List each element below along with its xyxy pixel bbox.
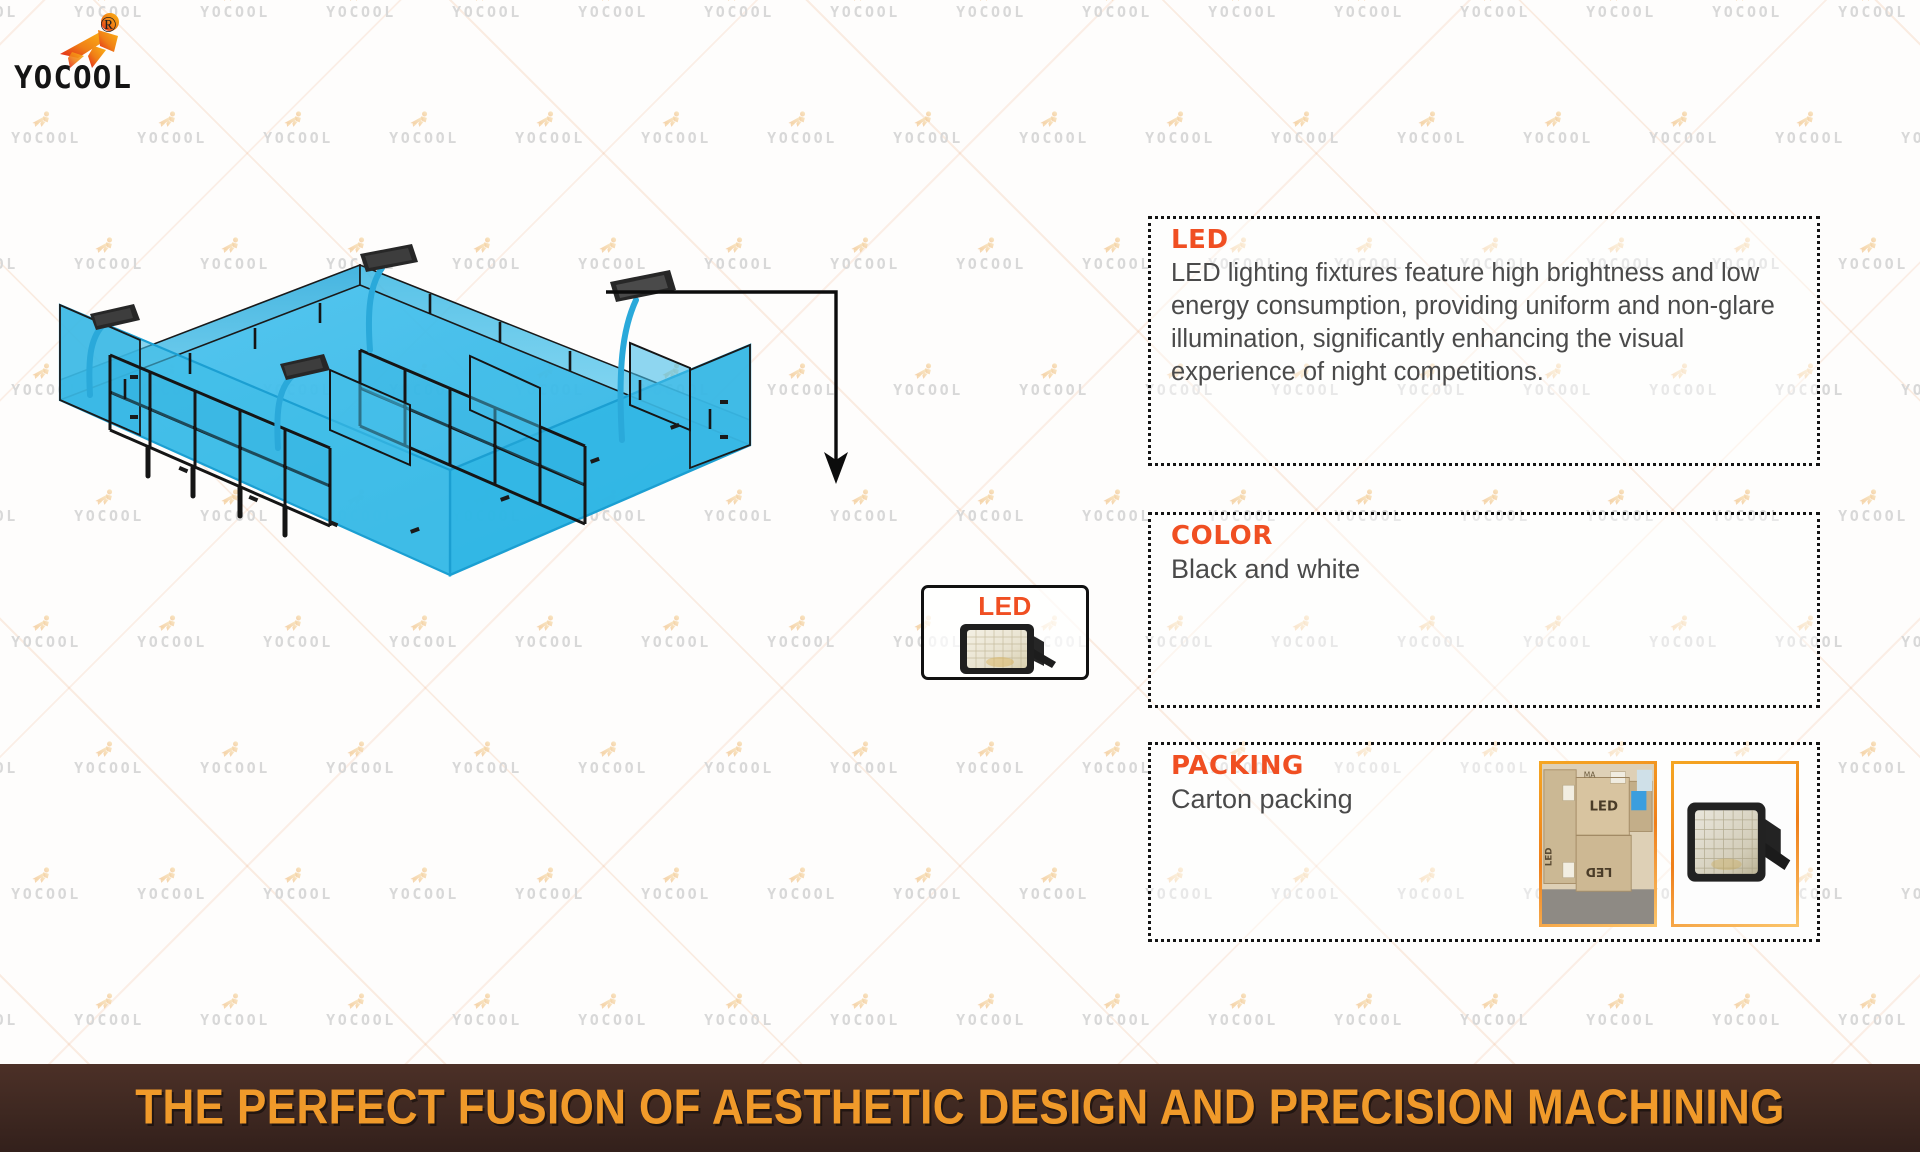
running-figure-icon: [659, 862, 693, 888]
watermark-mark: YOCOOL: [865, 862, 991, 922]
watermark-mark: YOCOOL: [928, 736, 1054, 796]
running-figure-icon: [407, 862, 441, 888]
watermark-mark: YOCOOL: [1873, 610, 1920, 670]
running-figure-icon: [407, 610, 441, 636]
led-callout-box: LED: [921, 585, 1089, 680]
running-figure-icon: [1856, 736, 1890, 762]
running-figure-icon: [722, 988, 756, 1014]
watermark-mark: YOCOOL: [0, 736, 46, 796]
watermark-mark: YOCOOL: [487, 610, 613, 670]
running-figure-icon: [911, 106, 945, 132]
running-figure-icon: [533, 106, 567, 132]
running-figure-icon: [1352, 0, 1386, 6]
running-figure-icon: [722, 0, 756, 6]
running-figure-icon: [1163, 106, 1197, 132]
watermark-mark: YOCOOL: [1180, 0, 1306, 40]
watermark-mark: YOCOOL: [1747, 106, 1873, 166]
watermark-mark: YOCOOL: [865, 106, 991, 166]
watermark-mark: YOCOOL: [1873, 862, 1920, 922]
running-figure-icon: [1415, 106, 1449, 132]
watermark-mark: YOCOOL: [172, 736, 298, 796]
led-floodlight-photo: [1671, 761, 1799, 927]
watermark-mark: YOCOOL: [1054, 988, 1180, 1048]
running-figure-icon: [1037, 106, 1071, 132]
watermark-mark: YOCOOL: [613, 106, 739, 166]
watermark-mark: YOCOOL: [613, 862, 739, 922]
watermark-mark: YOCOOL: [1873, 358, 1920, 418]
watermark-mark: YOCOOL: [172, 988, 298, 1048]
panel-heading-color: COLOR: [1171, 521, 1273, 551]
watermark-mark: YOCOOL: [424, 736, 550, 796]
running-figure-icon: [218, 988, 252, 1014]
watermark-mark: YOCOOL: [1054, 0, 1180, 40]
watermark-mark: YOCOOL: [109, 862, 235, 922]
bottom-slogan-banner: THE PERFECT FUSION OF AESTHETIC DESIGN A…: [0, 1064, 1920, 1152]
running-figure-icon: [1793, 106, 1827, 132]
watermark-mark: YOCOOL: [928, 988, 1054, 1048]
panel-body-led: LED lighting fixtures feature high brigh…: [1171, 257, 1801, 389]
running-figure-icon: [470, 0, 504, 6]
running-figure-icon: [281, 862, 315, 888]
led-floodlight-icon: [952, 618, 1062, 678]
watermark-mark: YOCOOL: [109, 106, 235, 166]
watermark-mark: YOCOOL: [235, 610, 361, 670]
running-figure-icon: [1100, 232, 1134, 258]
watermark-mark: YOCOOL: [1558, 0, 1684, 40]
watermark-mark: YOCOOL: [1432, 0, 1558, 40]
running-figure-icon: [1478, 988, 1512, 1014]
running-figure-icon: [92, 988, 126, 1014]
watermark-mark: YOCOOL: [676, 988, 802, 1048]
watermark-mark: YOCOOL: [1810, 232, 1920, 292]
running-figure-icon: [596, 988, 630, 1014]
watermark-mark: YOCOOL: [1810, 0, 1920, 40]
watermark-mark: YOCOOL: [1873, 106, 1920, 166]
running-figure-icon: [911, 862, 945, 888]
packing-thumbnail-group: LED LED LED MA: [1539, 761, 1799, 927]
running-figure-icon: [1604, 988, 1638, 1014]
running-figure-icon: [1730, 988, 1764, 1014]
running-figure-icon: [659, 610, 693, 636]
watermark-mark: YOCOOL: [739, 610, 865, 670]
running-figure-icon: [470, 736, 504, 762]
running-figure-icon: [344, 0, 378, 6]
watermark-mark: YOCOOL: [235, 106, 361, 166]
running-figure-icon: [218, 0, 252, 6]
watermark-mark: YOCOOL: [361, 106, 487, 166]
running-figure-icon: [974, 736, 1008, 762]
watermark-mark: YOCOOL: [0, 988, 46, 1048]
watermark-mark: YOCOOL: [739, 862, 865, 922]
watermark-mark: YOCOOL: [991, 358, 1117, 418]
running-figure-icon: [785, 862, 819, 888]
running-figure-icon: [974, 988, 1008, 1014]
watermark-mark: YOCOOL: [109, 610, 235, 670]
running-figure-icon: [848, 232, 882, 258]
running-figure-icon: [1352, 484, 1386, 510]
watermark-mark: YOCOOL: [550, 736, 676, 796]
running-figure-icon: [155, 106, 189, 132]
watermark-mark: YOCOOL: [928, 232, 1054, 292]
running-figure-icon: [848, 736, 882, 762]
panel-heading-packing: PACKING: [1171, 751, 1304, 781]
watermark-mark: YOCOOL: [1495, 106, 1621, 166]
running-figure-icon: [659, 106, 693, 132]
watermark-mark: YOCOOL: [487, 106, 613, 166]
running-figure-icon: [29, 862, 63, 888]
running-figure-icon: [1226, 988, 1260, 1014]
watermark-mark: YOCOOL: [676, 0, 802, 40]
running-figure-icon: [596, 736, 630, 762]
running-figure-icon: [470, 988, 504, 1014]
running-figure-icon: [1541, 106, 1575, 132]
running-figure-icon: [1289, 106, 1323, 132]
running-figure-icon: [1037, 862, 1071, 888]
watermark-mark: YOCOOL: [1369, 106, 1495, 166]
spec-panel-color: COLOR Black and white: [1148, 512, 1820, 708]
running-figure-icon: [1856, 232, 1890, 258]
running-figure-icon: [848, 988, 882, 1014]
svg-text:LED: LED: [1586, 865, 1613, 880]
running-figure-icon: [1100, 736, 1134, 762]
watermark-mark: YOCOOL: [1306, 988, 1432, 1048]
watermark-mark: YOCOOL: [1306, 0, 1432, 40]
watermark-mark: YOCOOL: [1684, 0, 1810, 40]
running-figure-icon: [29, 610, 63, 636]
callout-connector-arrow: [590, 270, 870, 500]
running-figure-icon: [1856, 484, 1890, 510]
running-figure-icon: [1100, 484, 1134, 510]
svg-text:LED: LED: [1545, 848, 1555, 867]
running-figure-icon: [1037, 358, 1071, 384]
watermark-mark: YOCOOL: [298, 0, 424, 40]
led-floodlight-image: [1674, 764, 1796, 924]
running-figure-icon: [722, 736, 756, 762]
running-figure-icon: [848, 0, 882, 6]
running-figure-icon: [785, 610, 819, 636]
watermark-mark: YOCOOL: [298, 736, 424, 796]
watermark-mark: YOCOOL: [424, 0, 550, 40]
running-figure-icon: [1667, 106, 1701, 132]
running-figure-icon: [281, 106, 315, 132]
brand-logo: ® YOCOOL: [14, 8, 194, 100]
watermark-mark: YOCOOL: [928, 484, 1054, 544]
panel-heading-led: LED: [1171, 225, 1229, 255]
running-figure-icon: [1856, 0, 1890, 6]
watermark-mark: YOCOOL: [991, 106, 1117, 166]
watermark-mark: YOCOOL: [550, 0, 676, 40]
watermark-mark: YOCOOL: [928, 0, 1054, 40]
running-figure-icon: [1730, 484, 1764, 510]
running-figure-icon: [1100, 0, 1134, 6]
watermark-mark: YOCOOL: [1684, 988, 1810, 1048]
watermark-mark: YOCOOL: [1810, 736, 1920, 796]
watermark-mark: YOCOOL: [1117, 106, 1243, 166]
running-figure-icon: [1730, 0, 1764, 6]
running-figure-icon: [1856, 988, 1890, 1014]
carton-boxes-image: LED LED LED MA: [1542, 764, 1654, 924]
running-figure-icon: [92, 736, 126, 762]
svg-text:LED: LED: [1589, 799, 1618, 814]
watermark-mark: YOCOOL: [550, 988, 676, 1048]
running-figure-icon: [533, 862, 567, 888]
svg-text:MA: MA: [1584, 770, 1596, 779]
watermark-mark: YOCOOL: [1243, 106, 1369, 166]
watermark-mark: YOCOOL: [802, 0, 928, 40]
watermark-mark: YOCOOL: [487, 862, 613, 922]
watermark-mark: YOCOOL: [613, 610, 739, 670]
watermark-mark: YOCOOL: [1810, 988, 1920, 1048]
running-figure-icon: [1226, 484, 1260, 510]
product-spec-page: YOCOOL YOCOOL YOCOOL: [0, 0, 1920, 1152]
watermark-mark: YOCOOL: [1558, 988, 1684, 1048]
brand-wordmark: YOCOOL: [14, 60, 132, 96]
watermark-mark: YOCOOL: [424, 988, 550, 1048]
spec-panel-packing: PACKING Carton packing LED: [1148, 742, 1820, 942]
watermark-mark: YOCOOL: [1621, 106, 1747, 166]
running-figure-icon: [155, 610, 189, 636]
watermark-mark: YOCOOL: [802, 988, 928, 1048]
watermark-mark: YOCOOL: [361, 862, 487, 922]
running-figure-icon: [155, 862, 189, 888]
spec-panel-led: LED LED lighting fixtures feature high b…: [1148, 216, 1820, 466]
running-figure-icon: [344, 988, 378, 1014]
watermark-mark: YOCOOL: [1180, 988, 1306, 1048]
running-figure-icon: [596, 0, 630, 6]
running-figure-icon: [1478, 484, 1512, 510]
running-figure-icon: [785, 106, 819, 132]
watermark-mark: YOCOOL: [0, 862, 109, 922]
watermark-mark: YOCOOL: [802, 736, 928, 796]
watermark-mark: YOCOOL: [298, 988, 424, 1048]
registered-trademark-symbol: ®: [100, 12, 117, 38]
watermark-mark: YOCOOL: [991, 862, 1117, 922]
carton-boxes-photo: LED LED LED MA: [1539, 761, 1657, 927]
running-figure-icon: [29, 106, 63, 132]
watermark-mark: YOCOOL: [865, 358, 991, 418]
watermark-mark: YOCOOL: [1810, 484, 1920, 544]
running-figure-icon: [1478, 0, 1512, 6]
watermark-mark: YOCOOL: [1432, 988, 1558, 1048]
watermark-mark: YOCOOL: [0, 106, 109, 166]
running-figure-icon: [974, 0, 1008, 6]
watermark-mark: YOCOOL: [46, 736, 172, 796]
running-figure-icon: [92, 0, 126, 6]
running-figure-icon: [281, 610, 315, 636]
running-figure-icon: [1604, 484, 1638, 510]
running-figure-icon: [974, 484, 1008, 510]
slogan-text: THE PERFECT FUSION OF AESTHETIC DESIGN A…: [135, 1080, 1785, 1136]
running-figure-icon: [218, 736, 252, 762]
running-figure-icon: [1352, 988, 1386, 1014]
running-figure-icon: [911, 358, 945, 384]
panel-body-color: Black and white: [1171, 553, 1801, 586]
running-figure-icon: [1604, 0, 1638, 6]
running-figure-icon: [974, 232, 1008, 258]
running-figure-icon: [407, 106, 441, 132]
watermark-mark: YOCOOL: [676, 736, 802, 796]
running-figure-icon: [1226, 0, 1260, 6]
watermark-mark: YOCOOL: [46, 988, 172, 1048]
watermark-mark: YOCOOL: [739, 106, 865, 166]
watermark-mark: YOCOOL: [0, 610, 109, 670]
running-figure-icon: [533, 610, 567, 636]
watermark-mark: YOCOOL: [235, 862, 361, 922]
running-figure-icon: [1100, 988, 1134, 1014]
running-figure-icon: [344, 736, 378, 762]
watermark-mark: YOCOOL: [361, 610, 487, 670]
